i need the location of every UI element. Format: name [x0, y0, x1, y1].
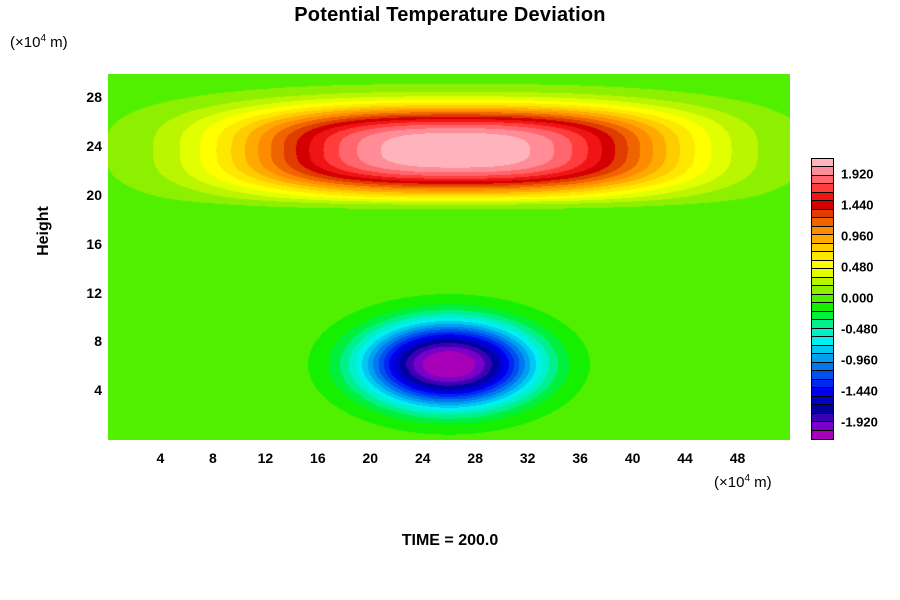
- colorbar-band: [812, 380, 833, 388]
- colorbar-band: [812, 210, 833, 218]
- colorbar-band: [812, 261, 833, 269]
- y-tick-label: 4: [58, 382, 102, 398]
- x-tick-label: 20: [350, 450, 390, 466]
- page-title: Potential Temperature Deviation: [0, 4, 900, 27]
- colorbar-band: [812, 397, 833, 405]
- x-units-suffix: m): [750, 474, 772, 491]
- y-axis-title: Height: [35, 183, 53, 279]
- colorbar-tick-label: 1.440: [841, 197, 874, 212]
- x-axis-units-label: (×104 m): [714, 473, 772, 491]
- x-tick-label: 36: [560, 450, 600, 466]
- x-tick-label: 16: [298, 450, 338, 466]
- colorbar-labels: 1.9201.4400.9600.4800.000-0.480-0.960-1.…: [841, 158, 900, 438]
- colorbar-band: [812, 176, 833, 184]
- colorbar-band: [812, 167, 833, 175]
- contour-plot-area: [108, 74, 790, 440]
- colorbar-tick-label: 0.960: [841, 228, 874, 243]
- y-tick-label: 20: [58, 187, 102, 203]
- x-tick-label: 32: [508, 450, 548, 466]
- colorbar-band: [812, 193, 833, 201]
- x-units-prefix: (×10: [714, 474, 744, 491]
- y-tick-label: 16: [58, 236, 102, 252]
- colorbar-band: [812, 405, 833, 413]
- colorbar-band: [812, 363, 833, 371]
- colorbar-band: [812, 201, 833, 209]
- colorbar-band: [812, 227, 833, 235]
- colorbar-band: [812, 431, 833, 439]
- colorbar-band: [812, 235, 833, 243]
- colorbar-band: [812, 269, 833, 277]
- x-tick-label: 28: [455, 450, 495, 466]
- colorbar-tick-label: 1.920: [841, 166, 874, 181]
- colorbar-band: [812, 286, 833, 294]
- colorbar: [811, 158, 834, 440]
- colorbar-tick-label: 0.480: [841, 259, 874, 274]
- colorbar-band: [812, 303, 833, 311]
- x-tick-label: 44: [665, 450, 705, 466]
- colorbar-band: [812, 371, 833, 379]
- colorbar-band: [812, 388, 833, 396]
- colorbar-tick-label: -1.440: [841, 384, 878, 399]
- colorbar-band: [812, 159, 833, 167]
- colorbar-band: [812, 346, 833, 354]
- colorbar-band: [812, 295, 833, 303]
- time-annotation: TIME = 200.0: [0, 532, 900, 550]
- colorbar-band: [812, 244, 833, 252]
- colorbar-band: [812, 184, 833, 192]
- y-tick-label: 28: [58, 89, 102, 105]
- colorbar-band: [812, 354, 833, 362]
- y-axis-units-label: (×104 m): [10, 33, 68, 51]
- x-tick-label: 8: [193, 450, 233, 466]
- colorbar-band: [812, 320, 833, 328]
- x-tick-label: 4: [140, 450, 180, 466]
- colorbar-tick-label: -0.480: [841, 322, 878, 337]
- y-axis-ticks: 481216202428: [52, 74, 102, 440]
- potential-temperature-field: [108, 74, 790, 440]
- y-units-prefix: (×10: [10, 34, 40, 51]
- y-tick-label: 12: [58, 285, 102, 301]
- colorbar-band: [812, 312, 833, 320]
- y-units-suffix: m): [46, 34, 68, 51]
- y-tick-label: 24: [58, 138, 102, 154]
- colorbar-band: [812, 329, 833, 337]
- x-tick-label: 24: [403, 450, 443, 466]
- colorbar-band: [812, 337, 833, 345]
- colorbar-band: [812, 218, 833, 226]
- x-axis-ticks: 4812162024283236404448: [108, 450, 790, 472]
- colorbar-band: [812, 414, 833, 422]
- y-tick-label: 8: [58, 333, 102, 349]
- x-tick-label: 40: [613, 450, 653, 466]
- colorbar-band: [812, 422, 833, 430]
- colorbar-tick-label: -1.920: [841, 415, 878, 430]
- colorbar-tick-label: -0.960: [841, 353, 878, 368]
- colorbar-tick-label: 0.000: [841, 291, 874, 306]
- x-tick-label: 12: [245, 450, 285, 466]
- colorbar-band: [812, 252, 833, 260]
- colorbar-band: [812, 278, 833, 286]
- x-tick-label: 48: [718, 450, 758, 466]
